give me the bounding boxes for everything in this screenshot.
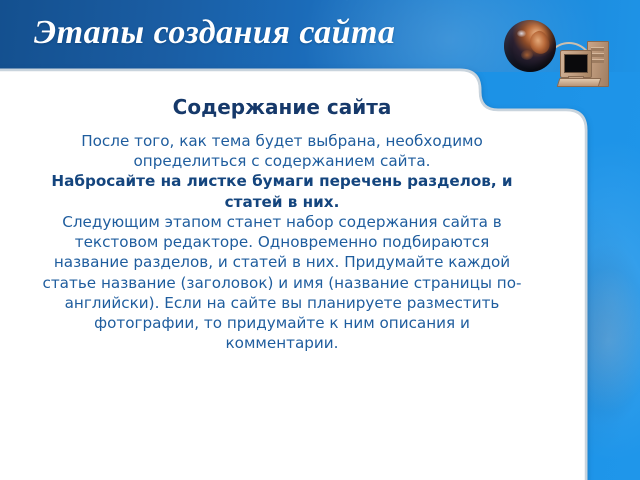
body-paragraph-1: После того, как тема будет выбрана, необ… [14,131,550,171]
drive-bay-icon [591,59,604,63]
keyboard-icon [557,78,602,87]
globe-icon [504,20,556,72]
body-paragraph-3: Следующим этапом станет набор содержания… [14,212,550,354]
content-body: Содержание сайта После того, как тема бу… [14,96,550,353]
body-paragraph-2: Набросайте на листке бумаги перечень раз… [14,171,550,211]
monitor-screen [564,54,588,73]
globe-landmass-icon [521,50,533,60]
monitor-icon [560,50,592,78]
drive-bay-icon [591,53,604,57]
globe-highlight [517,30,526,37]
content-heading: Содержание сайта [14,96,550,119]
globe-computer-graphic [498,16,620,94]
drive-bay-icon [591,47,604,51]
page-title: Этапы создания сайта [34,14,395,52]
slide-canvas: Этапы создания сайта Содержание сайта По… [0,0,640,480]
